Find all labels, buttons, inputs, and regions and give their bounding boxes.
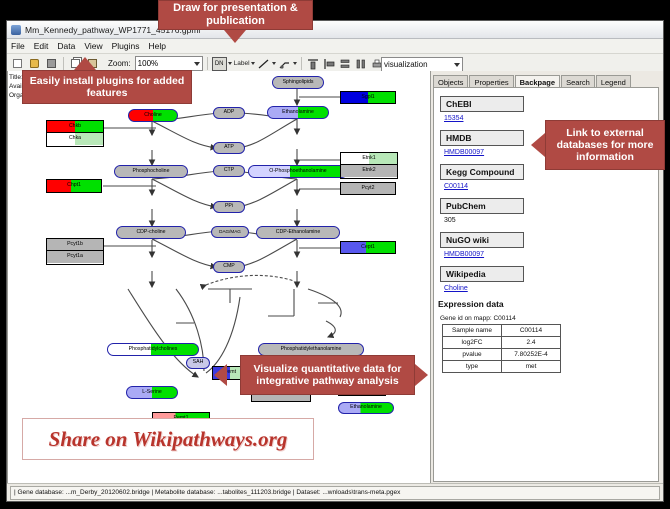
save-icon[interactable] [44,56,59,71]
db-title-pubchem: PubChem [440,198,524,214]
expr-value: met [502,361,561,373]
menu-item-view[interactable]: View [84,41,102,51]
db-entry-pubchem: PubChem 305 [440,196,658,224]
node-sphingolipids[interactable]: Sphingolipids [272,76,324,89]
chevron-down-icon [454,63,460,67]
datanode-icon: DN [212,57,227,71]
node-cdp-ethanolamine[interactable]: CDP-Ethanolamine [256,226,340,239]
callout-draw-arrow [224,30,246,43]
stack-horizontal-icon[interactable] [354,57,368,71]
gene-group-etnk: Etnk1 Etnk2 [340,152,398,179]
chevron-down-icon[interactable] [272,62,276,65]
align-top-icon[interactable] [306,57,320,71]
db-link-kegg[interactable]: C00114 [444,183,658,190]
callout-plugins: Easily install plugins for added feature… [22,70,192,104]
line-icon [257,57,271,71]
chevron-down-icon [194,62,200,66]
callout-plugins-arrow [74,57,96,70]
share-banner-text: Share on Wikipathways.org [49,427,288,452]
db-title-nugowiki: NuGO wiki [440,232,524,248]
menu-item-file[interactable]: File [11,41,25,51]
status-bar: | Gene database: ...m_Derby_20120602.bri… [7,483,663,501]
node-cdp-choline[interactable]: CDP-choline [116,226,186,239]
line-tool[interactable] [257,57,276,71]
gene-cept1[interactable]: Cept1 [340,241,396,254]
expr-value: 2.4 [502,337,561,349]
expression-data-heading: Expression data [438,299,658,309]
menu-item-edit[interactable]: Edit [34,41,49,51]
screenshot-root: Mm_Kennedy_pathway_WP1771_45176.gpml Fil… [0,0,670,509]
db-entry-wikipedia: Wikipedia Choline [440,264,658,292]
visualization-select[interactable]: visualization [381,57,463,72]
zoom-select[interactable]: 100% [135,56,203,71]
expression-table: Sample name C00114 log2FC 2.4 pvalue 7.8… [442,324,561,373]
chevron-down-icon[interactable] [293,62,297,65]
toolbar-separator [207,57,208,70]
zoom-label: Zoom: [108,59,131,68]
node-choline-top[interactable]: Choline [128,109,178,122]
gene-group-chk: Chkb Chka [46,120,104,147]
share-banner: Share on Wikipathways.org [22,418,314,460]
gene-sgpl1[interactable]: Sgpl1 [340,91,396,104]
menu-item-data[interactable]: Data [57,41,75,51]
gene-pcyt1a[interactable]: Pcyt1a [47,251,103,263]
db-title-wikipedia: Wikipedia [440,266,524,282]
zoom-value: 100% [138,59,158,68]
label-tool-text: Label [234,60,250,67]
title-bar: Mm_Kennedy_pathway_WP1771_45176.gpml [7,21,663,39]
gene-chka[interactable]: Chka [47,133,103,145]
node-sah[interactable]: SAH [186,357,210,369]
node-dag-mag[interactable]: DAG/MAG [211,226,249,238]
gene-chpt1[interactable]: Chpt1 [46,179,102,193]
node-o-phosphoethanolamine[interactable]: O-Phosphoethanolamine [248,165,348,178]
datanode-tool[interactable]: DN [212,57,232,71]
db-title-kegg: Kegg Compound [440,164,524,180]
callout-links-arrow [531,133,545,157]
menu-item-help[interactable]: Help [149,41,166,51]
table-row: Sample name C00114 [443,325,561,337]
node-phosphatidylcholines[interactable]: Phosphatidylcholines [107,343,199,356]
node-l-serine-left[interactable]: L-Serine [126,386,178,399]
table-row: pvalue 7.80252E-4 [443,349,561,361]
gene-pcyt2[interactable]: Pcyt2 [340,182,396,195]
visualization-value: visualization [384,60,428,69]
expr-value: C00114 [502,325,561,337]
expr-key: pvalue [443,349,502,361]
gene-group-pcyt1: Pcyt1b Pcyt1a [46,238,104,265]
callout-draw: Draw for presentation & publication [158,0,313,30]
expr-key: Sample name [443,325,502,337]
node-ethanolamine-bottom[interactable]: Ethanolamine [338,402,394,414]
expr-value: 7.80252E-4 [502,349,561,361]
label-tool[interactable]: Label [234,60,255,67]
node-ethanolamine[interactable]: Ethanolamine [267,106,329,119]
gene-etnk2[interactable]: Etnk2 [341,165,397,177]
db-entry-nugowiki: NuGO wiki HMDB00097 [440,230,658,258]
status-bar-text: | Gene database: ...m_Derby_20120602.bri… [10,486,660,500]
table-row: log2FC 2.4 [443,337,561,349]
open-icon[interactable] [27,56,42,71]
app-icon [11,25,21,35]
toolbar-separator [301,57,302,70]
gene-etnk1[interactable]: Etnk1 [341,153,397,165]
toolbar-separator [63,57,64,70]
node-phosphocholine[interactable]: Phosphocholine [114,165,188,178]
db-entry-chebi: ChEBI 15354 [440,94,658,122]
expr-key: type [443,361,502,373]
align-left-icon[interactable] [322,57,336,71]
node-ctp[interactable]: CTP [213,165,245,177]
node-ppi[interactable]: PPi [213,201,245,213]
callout-visualize: Visualize quantitative data for integrat… [240,355,415,395]
table-row: type met [443,361,561,373]
callout-visualize-arrow [214,364,227,386]
arrow-line-icon [278,57,292,71]
node-adp[interactable]: ADP [213,107,245,119]
gene-pcyt1b[interactable]: Pcyt1b [47,239,103,251]
gene-id-line: Gene id on mapp: C00114 [440,315,658,322]
db-value-pubchem: 305 [444,217,658,224]
menu-bar: File Edit Data View Plugins Help [7,39,663,54]
stack-vertical-icon[interactable] [338,57,352,71]
db-link-wikipedia[interactable]: Choline [444,285,658,292]
gene-chkb[interactable]: Chkb [47,121,103,133]
menu-item-plugins[interactable]: Plugins [112,41,140,51]
new-icon[interactable] [10,56,25,71]
chevron-down-icon[interactable] [228,62,232,65]
db-link-nugowiki[interactable]: HMDB00097 [444,251,658,258]
chevron-down-icon[interactable] [251,62,255,65]
node-cmp[interactable]: CMP [213,261,245,273]
node-atp[interactable]: ATP [213,142,245,154]
callout-links: Link to external databases for more info… [545,120,665,170]
expr-key: log2FC [443,337,502,349]
side-panel-tabs: Objects Properties Backpage Search Legen… [433,73,659,88]
db-title-hmdb: HMDB [440,130,524,146]
interaction-tool[interactable] [278,57,297,71]
callout-visualize-arrow-right [415,364,428,386]
db-title-chebi: ChEBI [440,96,524,112]
